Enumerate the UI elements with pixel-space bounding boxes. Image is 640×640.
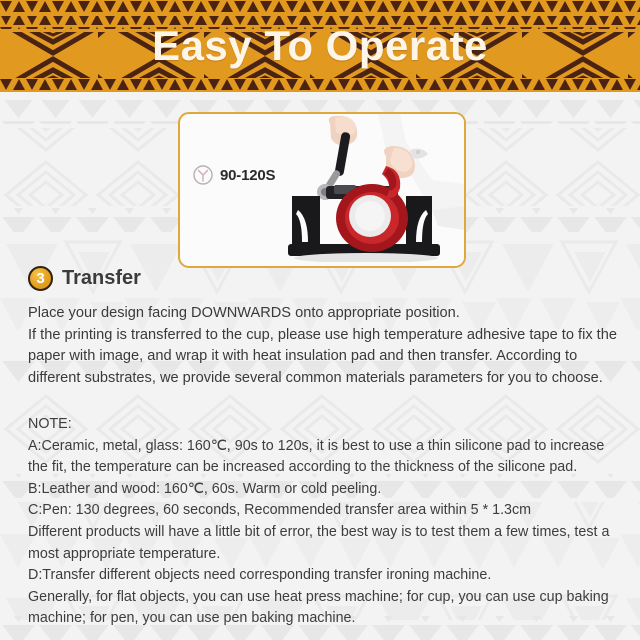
note-item-a: A:Ceramic, metal, glass: 160℃, 90s to 12… bbox=[28, 436, 624, 479]
page-title: Easy To Operate bbox=[0, 0, 640, 92]
timer-chip: 90-120S bbox=[192, 164, 275, 186]
header-banner: Easy To Operate bbox=[0, 0, 640, 92]
section-title: Transfer bbox=[62, 267, 141, 290]
body-copy: Place your design facing DOWNWARDS onto … bbox=[28, 303, 620, 389]
note-item-c: C:Pen: 130 degrees, 60 seconds, Recommen… bbox=[28, 500, 624, 522]
note-item-b: B:Leather and wood: 160℃, 60s. Warm or c… bbox=[28, 479, 624, 501]
section-heading: 3 Transfer bbox=[28, 266, 141, 291]
mug-heat-press-photo bbox=[282, 114, 464, 262]
note-item-d: D:Transfer different objects need corres… bbox=[28, 565, 624, 587]
body-line-1: Place your design facing DOWNWARDS onto … bbox=[28, 303, 620, 325]
page-root: Easy To Operate 90-120S bbox=[0, 0, 640, 640]
timer-label: 90-120S bbox=[220, 167, 275, 184]
note-heading: NOTE: bbox=[28, 414, 624, 436]
note-block: NOTE: A:Ceramic, metal, glass: 160℃, 90s… bbox=[28, 414, 624, 630]
body-line-2: If the printing is transferred to the cu… bbox=[28, 325, 620, 390]
note-item-variance: Different products will have a little bi… bbox=[28, 522, 624, 565]
clock-icon bbox=[192, 164, 214, 186]
note-item-machines: Generally, for flat objects, you can use… bbox=[28, 587, 624, 630]
photo-card: 90-120S bbox=[178, 112, 466, 268]
step-number-badge: 3 bbox=[28, 266, 53, 291]
